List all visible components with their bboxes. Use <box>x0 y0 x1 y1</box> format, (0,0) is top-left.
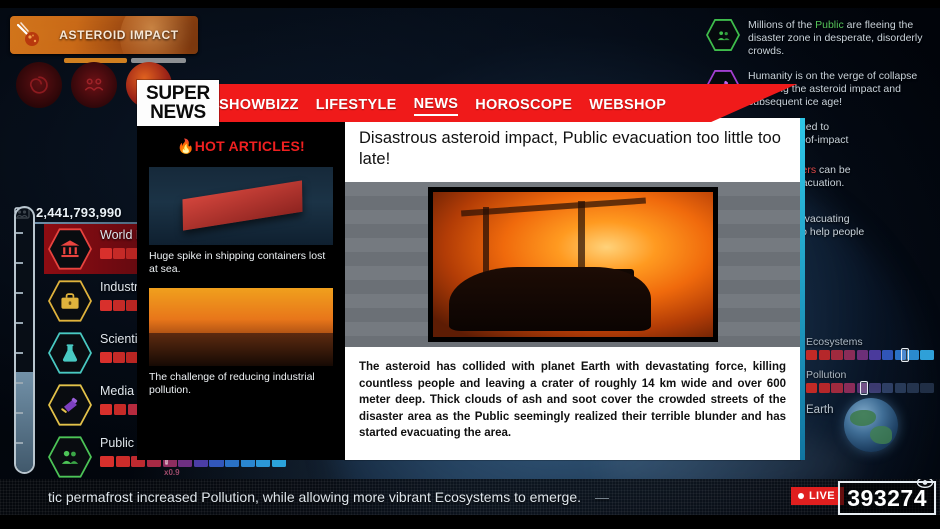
hot-article-card[interactable]: The challenge of reducing industrial pol… <box>149 288 333 397</box>
news-nav-items: SHOWBIZZ LIFESTYLE NEWS HOROSCOPE WEBSHO… <box>219 96 666 116</box>
gauge-ticks <box>16 208 33 472</box>
environment-panel: Ecosystems Pollution <box>806 336 934 402</box>
burning-building-photo <box>428 187 718 342</box>
environment-row-pollution[interactable]: Pollution <box>806 369 934 393</box>
article-headline: Disastrous asteroid impact, Public evacu… <box>345 118 800 182</box>
notification-item[interactable]: Millions of the Public are fleeing the d… <box>706 18 926 58</box>
pollution-bar <box>806 383 934 393</box>
news-ticker: tic permafrost increased Pollution, whil… <box>0 479 940 515</box>
asteroid-icon <box>14 20 44 50</box>
flame-icon: 🔥 <box>177 138 195 154</box>
live-label: LIVE <box>809 490 835 502</box>
logo-line-2: NEWS <box>150 103 206 122</box>
nav-item-horoscope[interactable]: HOROSCOPE <box>475 97 572 115</box>
population-gauge <box>14 206 35 474</box>
super-news-logo[interactable]: SUPER NEWS <box>137 80 219 126</box>
game-screen: ASTEROID IMPACT <box>0 0 940 529</box>
live-badge: LIVE <box>791 487 844 505</box>
hot-article-caption: The challenge of reducing industrial pol… <box>149 366 333 397</box>
ecosystems-knob[interactable] <box>901 348 909 362</box>
industrial-plant-photo <box>149 288 333 366</box>
population-value: 2,441,793,990 <box>36 205 122 220</box>
nav-item-showbizz[interactable]: SHOWBIZZ <box>219 97 299 115</box>
pollution-knob[interactable] <box>860 381 868 395</box>
environment-row-ecosystems[interactable]: Ecosystems <box>806 336 934 360</box>
article-body: The asteroid has collided with planet Ea… <box>345 347 800 454</box>
public-hex-icon <box>706 18 740 52</box>
hot-article-card[interactable]: Huge spike in shipping containers lost a… <box>149 167 333 276</box>
bank-icon <box>48 227 92 271</box>
nav-item-webshop[interactable]: WEBSHOP <box>589 97 666 115</box>
hot-articles-panel: 🔥HOT ARTICLES! Huge spike in shipping co… <box>137 122 345 460</box>
bottom-letterbox <box>0 515 940 529</box>
flask-icon <box>48 331 92 375</box>
globe-icon[interactable] <box>844 398 898 452</box>
hot-article-caption: Huge spike in shipping containers lost a… <box>149 245 333 276</box>
hot-articles-title: 🔥HOT ARTICLES! <box>137 122 345 155</box>
crowd-event-icon[interactable] <box>71 62 117 108</box>
briefcase-icon <box>48 279 92 323</box>
article-edge-accent <box>800 118 805 460</box>
environment-label: Ecosystems <box>806 336 934 348</box>
event-label: ASTEROID IMPACT <box>44 28 198 42</box>
people-icon <box>48 435 92 479</box>
nav-item-news[interactable]: NEWS <box>414 96 459 116</box>
environment-label: Pollution <box>806 369 934 381</box>
live-dot-icon <box>798 493 804 499</box>
nav-item-lifestyle[interactable]: LIFESTYLE <box>316 97 397 115</box>
shipping-container-photo <box>149 167 333 245</box>
article-panel: Disastrous asteroid impact, Public evacu… <box>345 118 800 460</box>
megaphone-icon <box>48 383 92 427</box>
ticker-text: tic permafrost increased Pollution, whil… <box>48 489 609 505</box>
top-letterbox <box>0 0 940 8</box>
event-banner[interactable]: ASTEROID IMPACT <box>10 16 198 54</box>
ecosystems-bar <box>806 350 934 360</box>
faction-multiplier: x0.9 <box>164 468 180 477</box>
notification-text: Millions of the Public are fleeing the d… <box>748 18 926 58</box>
logo-line-1: SUPER <box>146 84 210 103</box>
eye-icon <box>916 479 934 494</box>
spiral-event-icon[interactable] <box>16 62 62 108</box>
planet-label: Earth <box>806 404 834 416</box>
article-media <box>345 182 800 347</box>
